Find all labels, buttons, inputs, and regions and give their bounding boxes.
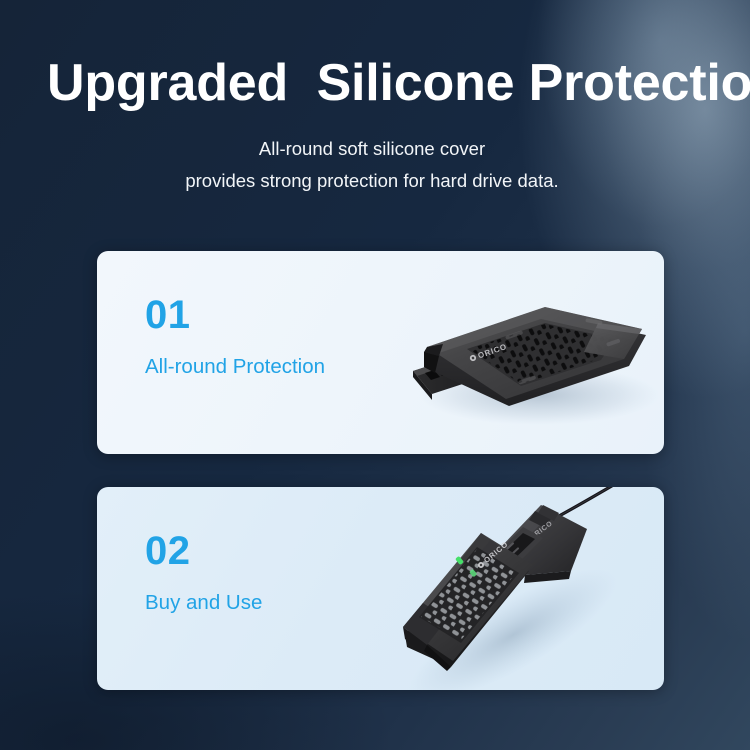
product-image-hdd-enclosure: ORICO — [393, 251, 664, 454]
enclosure-body-2: ORICO — [403, 533, 533, 671]
svg-text:ORICO: ORICO — [529, 520, 554, 542]
subtitle-line-1: All-round soft silicone cover — [259, 138, 485, 159]
card-1-text-block: 01 All-round Protection — [145, 295, 325, 378]
feature-card-2[interactable]: 02 Buy and Use — [97, 487, 664, 690]
page-title: Upgraded Silicone Protection — [0, 0, 750, 109]
card-2-caption: Buy and Use — [145, 593, 262, 614]
usb-cable — [546, 487, 627, 523]
svg-text:ORICO: ORICO — [482, 539, 510, 564]
svg-text:ORICO: ORICO — [477, 342, 509, 360]
subtitle-line-2: provides strong protection for hard driv… — [0, 165, 744, 197]
sata-connector — [487, 527, 543, 574]
activity-led — [469, 569, 477, 578]
power-led — [455, 556, 464, 565]
sata-usb-adapter: ORICO — [501, 505, 587, 583]
silicone-rib-bar — [413, 341, 524, 400]
feature-card-1[interactable]: 01 All-round Protection — [97, 251, 664, 454]
card-1-number: 01 — [145, 295, 325, 335]
product-image-hdd-with-adapter: ORICO — [383, 487, 664, 690]
header: Upgraded Silicone Protection All-round s… — [0, 0, 750, 197]
orico-logo: ORICO — [469, 342, 509, 363]
card-1-caption: All-round Protection — [145, 357, 325, 378]
orico-logo-2: ORICO — [476, 539, 510, 570]
page-subtitle: All-round soft silicone cover provides s… — [0, 133, 750, 197]
card-2-text-block: 02 Buy and Use — [145, 531, 262, 614]
card-2-number: 02 — [145, 531, 262, 571]
enclosure-body: ORICO — [424, 307, 646, 406]
